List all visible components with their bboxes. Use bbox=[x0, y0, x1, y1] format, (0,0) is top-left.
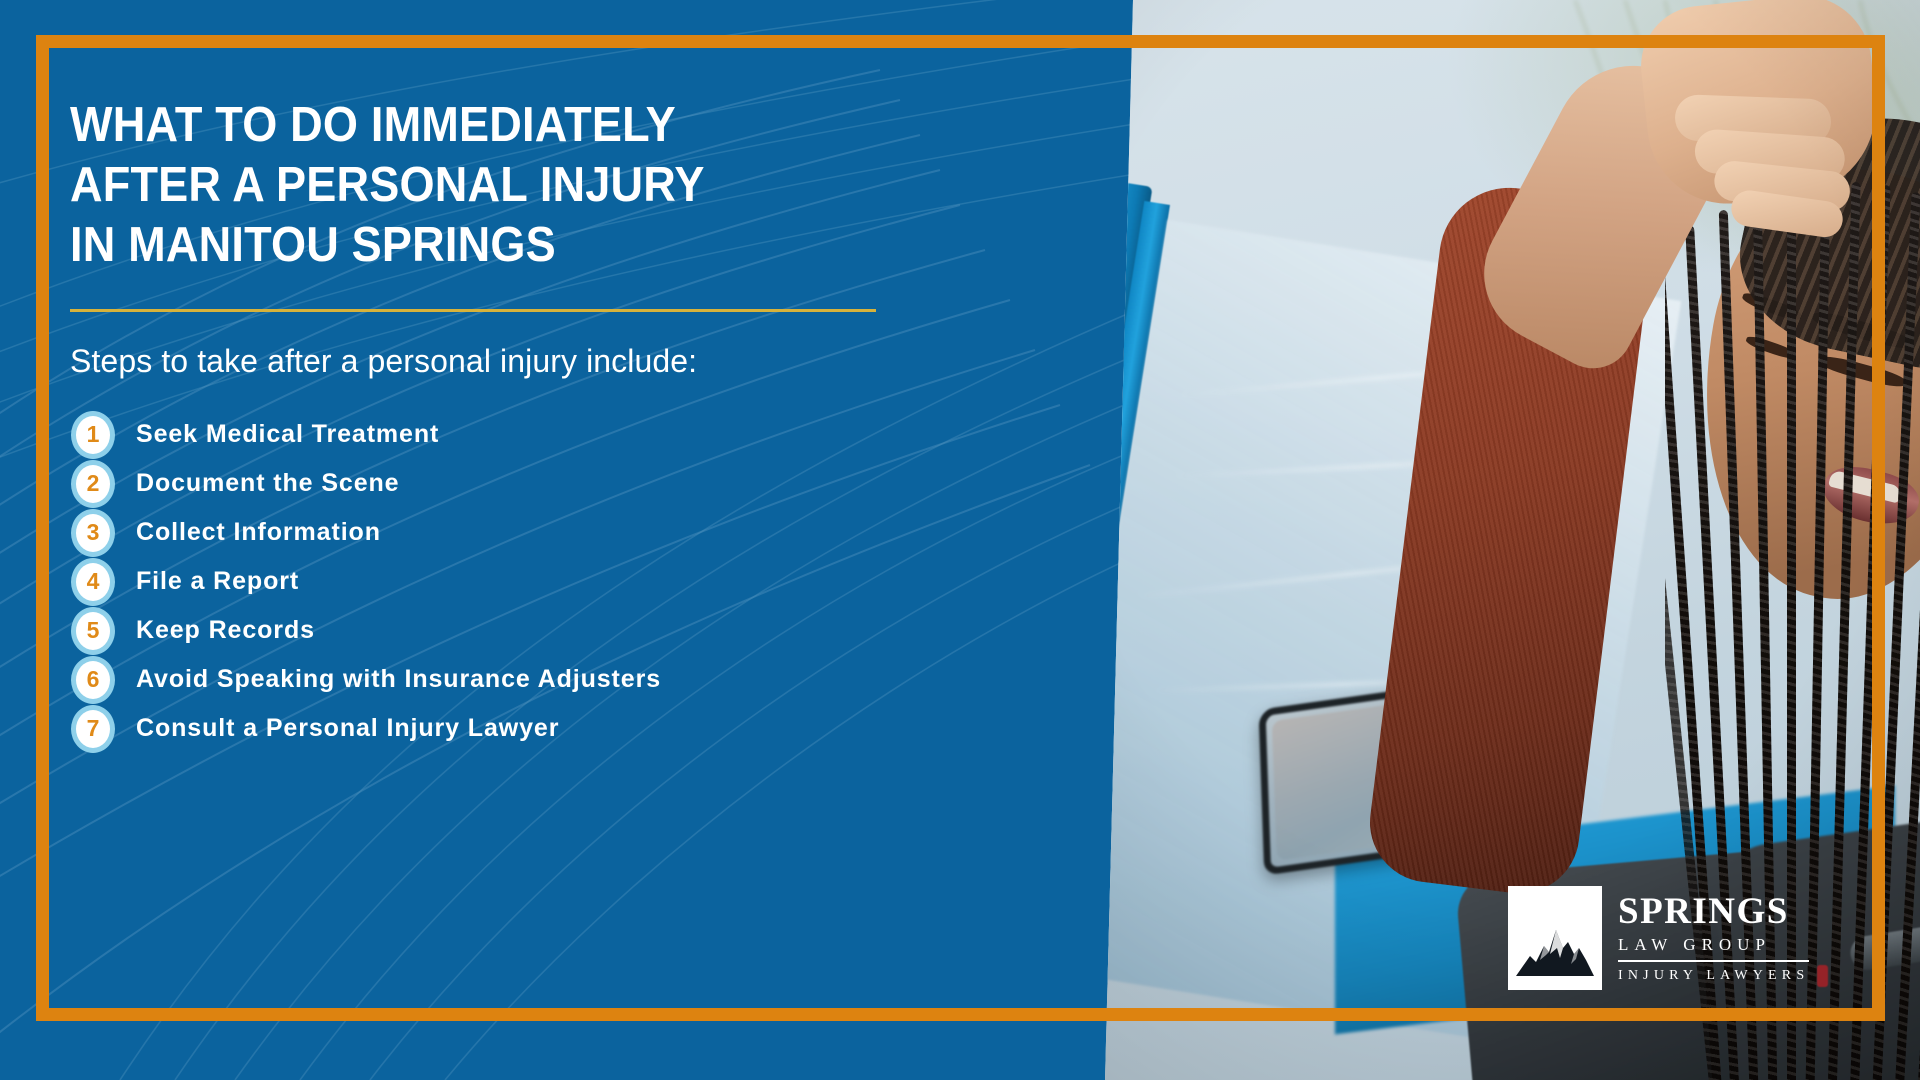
banner-content: WHAT TO DO IMMEDIATELY AFTER A PERSONAL … bbox=[70, 95, 900, 753]
logo-wordmark: SPRINGS LAW GROUP INJURY LAWYERS bbox=[1618, 886, 1809, 990]
step-label: Seek Medical Treatment bbox=[136, 420, 439, 449]
logo-line-injury-lawyers: INJURY LAWYERS bbox=[1618, 969, 1809, 983]
step-label: Collect Information bbox=[136, 518, 381, 547]
step-label: Document the Scene bbox=[136, 469, 399, 498]
gold-divider bbox=[70, 309, 876, 312]
list-item: 3 Collect Information bbox=[70, 508, 900, 557]
mountain-icon bbox=[1508, 886, 1602, 990]
list-item: 6 Avoid Speaking with Insurance Adjuster… bbox=[70, 655, 900, 704]
banner-subhead: Steps to take after a personal injury in… bbox=[70, 343, 900, 380]
step-number-badge: 1 bbox=[76, 416, 110, 454]
step-number-badge: 6 bbox=[76, 661, 110, 699]
step-label: Consult a Personal Injury Lawyer bbox=[136, 714, 559, 743]
step-label: Keep Records bbox=[136, 616, 315, 645]
step-number-badge: 5 bbox=[76, 612, 110, 650]
step-number-badge: 3 bbox=[76, 514, 110, 552]
steps-list: 1 Seek Medical Treatment 2 Document the … bbox=[70, 410, 900, 753]
step-number-badge: 2 bbox=[76, 465, 110, 503]
logo-rule bbox=[1618, 960, 1809, 962]
list-item: 4 File a Report bbox=[70, 557, 900, 606]
list-item: 7 Consult a Personal Injury Lawyer bbox=[70, 704, 900, 753]
springs-law-group-logo: SPRINGS LAW GROUP INJURY LAWYERS bbox=[1508, 886, 1848, 990]
logo-line-springs: SPRINGS bbox=[1618, 893, 1809, 930]
list-item: 2 Document the Scene bbox=[70, 459, 900, 508]
page-title: WHAT TO DO IMMEDIATELY AFTER A PERSONAL … bbox=[70, 95, 834, 275]
step-label: Avoid Speaking with Insurance Adjusters bbox=[136, 665, 661, 694]
list-item: 1 Seek Medical Treatment bbox=[70, 410, 900, 459]
banner-canvas: WHAT TO DO IMMEDIATELY AFTER A PERSONAL … bbox=[0, 0, 1920, 1080]
step-label: File a Report bbox=[136, 567, 299, 596]
step-number-badge: 7 bbox=[76, 710, 110, 748]
logo-line-law-group: LAW GROUP bbox=[1618, 936, 1809, 953]
list-item: 5 Keep Records bbox=[70, 606, 900, 655]
step-number-badge: 4 bbox=[76, 563, 110, 601]
